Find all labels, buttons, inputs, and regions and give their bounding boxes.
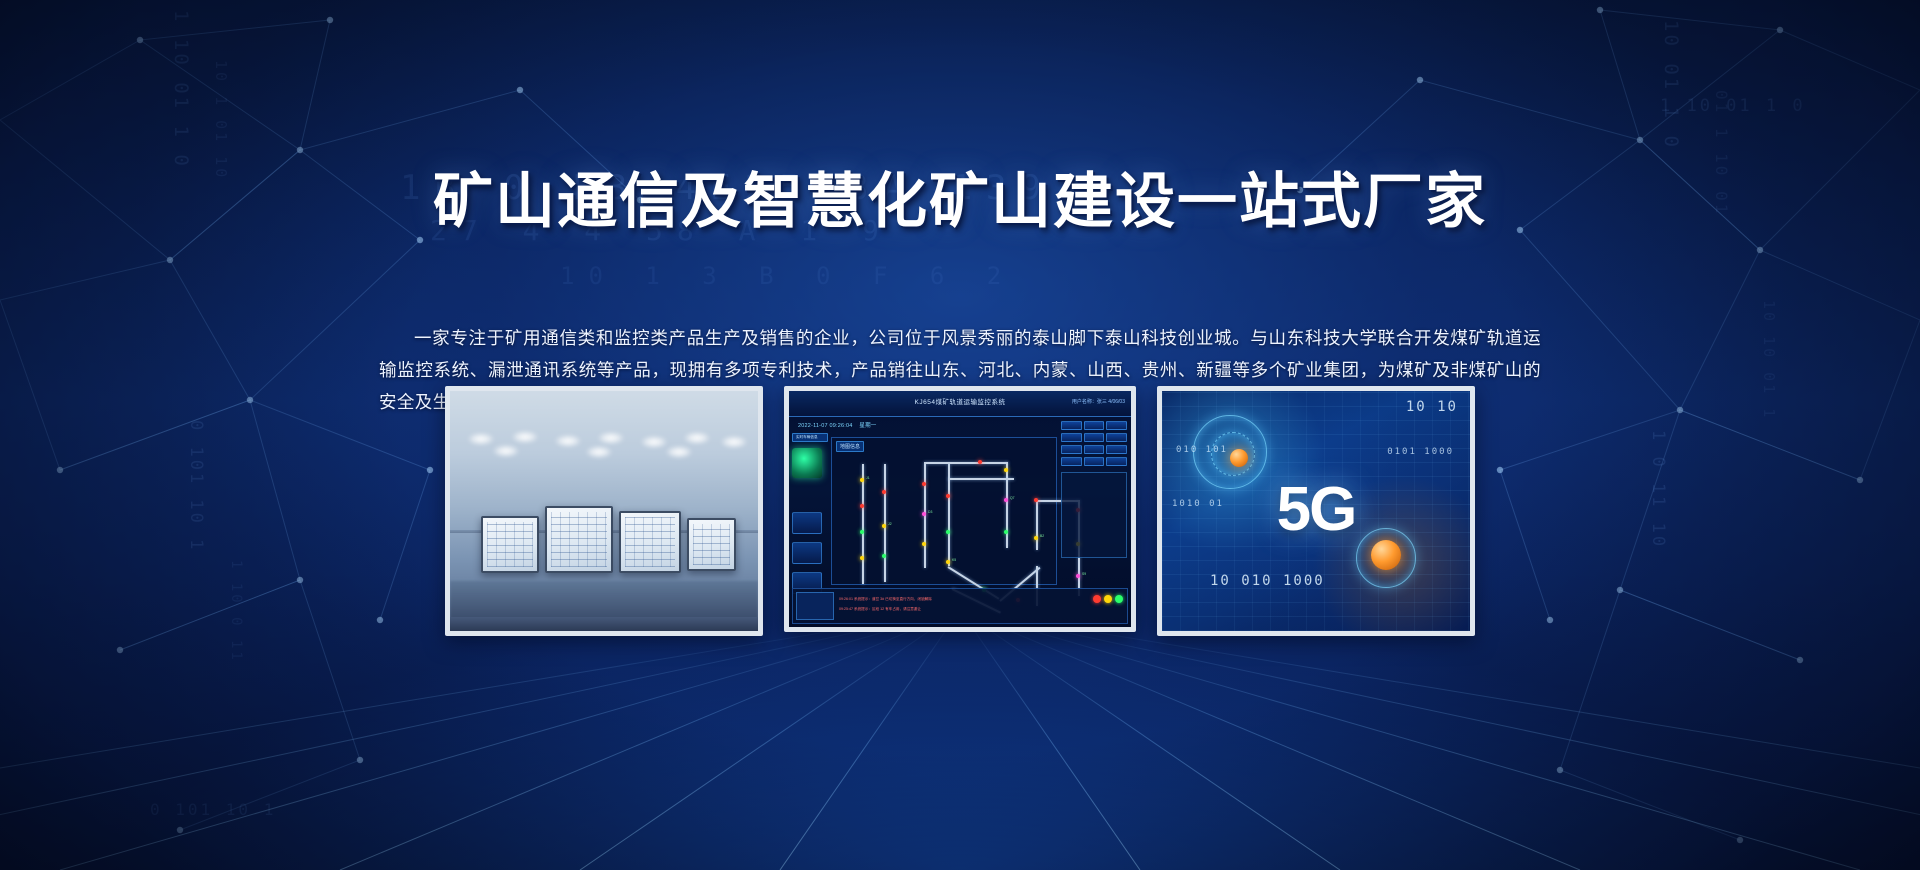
scada-map-panel-label: 地图信息 [836, 441, 864, 452]
scada-toolbar-button[interactable] [1061, 457, 1082, 466]
scada-user-info: 用户名称：张三 4/06/03 [1072, 398, 1125, 405]
scada-toolbar-button[interactable] [1084, 457, 1105, 466]
page-title: 矿山通信及智慧化矿山建设一站式厂家 [0, 170, 1920, 235]
thumbnail-control-room[interactable] [445, 386, 763, 636]
scada-node-tag: Q7 [1010, 496, 1015, 500]
ceiling-lights [450, 429, 758, 467]
thumbnail-gallery: KJ654煤矿轨道运输监控系统 用户名称：张三 4/06/03 2022-11-… [445, 386, 1475, 636]
scada-node-tag: J1 [866, 476, 870, 480]
control-room-photo [450, 391, 758, 631]
scada-toolbar-button[interactable] [1084, 445, 1105, 454]
scada-log-line: 09:25:47 系统提示：区段 12 有车占用，请注意避让 [839, 607, 921, 612]
five-g-photo: 5G 10 10 010 101 0101 1000 10 010 1000 1… [1162, 391, 1470, 631]
monitor-3 [619, 511, 681, 573]
scada-node-tag: D3 [928, 510, 932, 514]
binary-label-4: 10 010 1000 [1210, 573, 1325, 589]
scada-toolbar[interactable] [1061, 421, 1127, 587]
scada-datetime: 2022-11-07 09:26:04 星期一 [798, 421, 877, 429]
monitor-2 [545, 506, 613, 573]
five-g-headline: 5G [1277, 474, 1356, 545]
monitor-1 [481, 516, 540, 574]
scada-weekday-value: 星期一 [859, 423, 876, 429]
hero-banner: 1 10 01 1 0 10 1 01 10 0 101 10 1 1 10 0… [0, 0, 1920, 870]
scada-date-value: 2022-11-07 09:26:04 [798, 423, 852, 429]
scada-toolbar-button[interactable] [1106, 457, 1127, 466]
scada-toolbar-button[interactable] [1084, 421, 1105, 430]
scada-node-tag: J2 [888, 522, 892, 526]
scada-left-panel[interactable]: 实时车辆信息 [792, 433, 828, 585]
scada-toolbar-button[interactable] [1084, 433, 1105, 442]
hero-content: 矿山通信及智慧化矿山建设一站式厂家 一家专注于矿用通信类和监控类产品生产及销售的… [0, 0, 1920, 870]
scada-toolbar-button[interactable] [1106, 421, 1127, 430]
scada-log-line: 09:26:01 系统提示：道岔 3# 已切换至直行方向，闭锁解除 [839, 597, 932, 602]
scada-log-panel[interactable]: 09:26:01 系统提示：道岔 3# 已切换至直行方向，闭锁解除 09:25:… [792, 588, 1128, 624]
binary-label-3: 0101 1000 [1387, 447, 1454, 457]
monitor-4 [687, 518, 736, 571]
scada-map-panel[interactable]: 地图信息 [831, 437, 1057, 585]
scada-toolbar-button[interactable] [1061, 445, 1082, 454]
scada-toolbar-button[interactable] [1061, 421, 1082, 430]
scada-left-panel-label: 实时车辆信息 [792, 433, 828, 442]
scada-toolbar-button[interactable] [1106, 445, 1127, 454]
core-node-badge [1230, 449, 1248, 467]
scada-screenshot: KJ654煤矿轨道运输监控系统 用户名称：张三 4/06/03 2022-11-… [789, 391, 1131, 627]
thumbnail-scada-system[interactable]: KJ654煤矿轨道运输监控系统 用户名称：张三 4/06/03 2022-11-… [784, 386, 1136, 632]
binary-label-1: 10 10 [1406, 399, 1458, 415]
scada-toolbar-button[interactable] [1061, 433, 1082, 442]
thumbnail-5g-network[interactable]: 5G 10 10 010 101 0101 1000 10 010 1000 1… [1157, 386, 1475, 636]
scada-toolbar-button[interactable] [1106, 433, 1127, 442]
binary-label-5: 1010 01 [1172, 499, 1224, 509]
scada-title: KJ654煤矿轨道运输监控系统 [915, 396, 1006, 406]
scada-node-tag: B2 [1040, 534, 1044, 538]
scada-node-tag: K5 [952, 558, 956, 562]
binary-label-2: 010 101 [1176, 445, 1228, 455]
